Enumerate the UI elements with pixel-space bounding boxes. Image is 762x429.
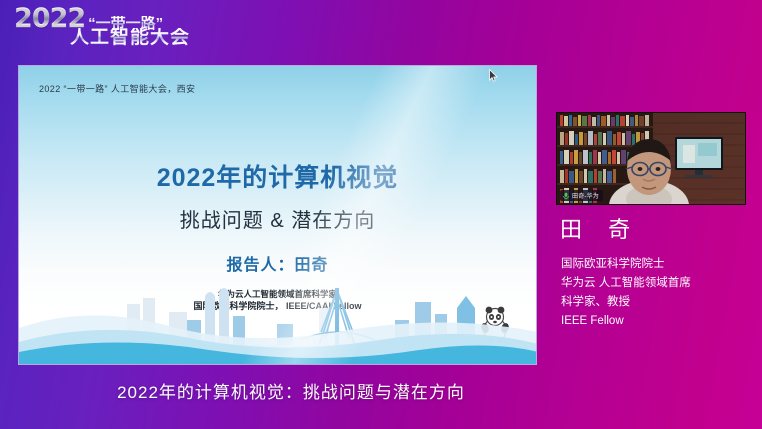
bio-line-1: 国际欧亚科学院院士 bbox=[561, 255, 757, 274]
cityscape-illustration bbox=[19, 268, 536, 364]
session-caption: 2022年的计算机视觉：挑战问题与潜在方向 bbox=[0, 378, 762, 403]
conference-logo: 2022 “一带一路” 人工智能大会 bbox=[14, 6, 244, 52]
slide-title: 2022年的计算机视觉 bbox=[19, 158, 536, 194]
slide-header-text: 2022 “一带一路” 人工智能大会，西安 bbox=[39, 82, 195, 95]
bio-line-2: 华为云 人工智能领域首席 bbox=[561, 274, 757, 293]
video-participant-name: 田奇-华为 bbox=[572, 191, 599, 200]
microphone-icon bbox=[562, 192, 570, 200]
speaker-name: 田 奇 bbox=[560, 212, 640, 244]
bio-line-3: 科学家、教授 bbox=[561, 293, 757, 312]
speaker-bio: 国际欧亚科学院院士 华为云 人工智能领域首席 科学家、教授 IEEE Fello… bbox=[561, 255, 757, 331]
speaker-video-feed[interactable]: 田奇-华为 bbox=[556, 112, 746, 205]
bio-line-4: IEEE Fellow bbox=[561, 312, 757, 331]
broadcast-stage: 2022 “一带一路” 人工智能大会 2022 “一带一路” 人工智能大会，西安… bbox=[0, 0, 762, 429]
affiliation-line-1: 华为云人工智能领域首席科学家 bbox=[19, 288, 536, 300]
presentation-slide[interactable]: 2022 “一带一路” 人工智能大会，西安 2022年的计算机视觉 挑战问题 &… bbox=[18, 65, 537, 365]
slide-affiliation: 华为云人工智能领域首席科学家 国际欧亚科学院院士， IEEE/CAAI Fell… bbox=[19, 288, 536, 313]
slide-speaker-label: 报告人：田奇 bbox=[19, 251, 536, 275]
slide-subtitle: 挑战问题 & 潜在方向 bbox=[19, 204, 536, 233]
cityscape-svg bbox=[19, 268, 536, 364]
session-caption-text: 2022年的计算机视觉：挑战问题与潜在方向 bbox=[117, 383, 645, 402]
affiliation-line-2: 国际欧亚科学院院士， IEEE/CAAI Fellow bbox=[19, 300, 536, 313]
video-participant-tag: 田奇-华为 bbox=[560, 190, 603, 201]
logo-event-text: 人工智能大会 bbox=[70, 28, 244, 47]
